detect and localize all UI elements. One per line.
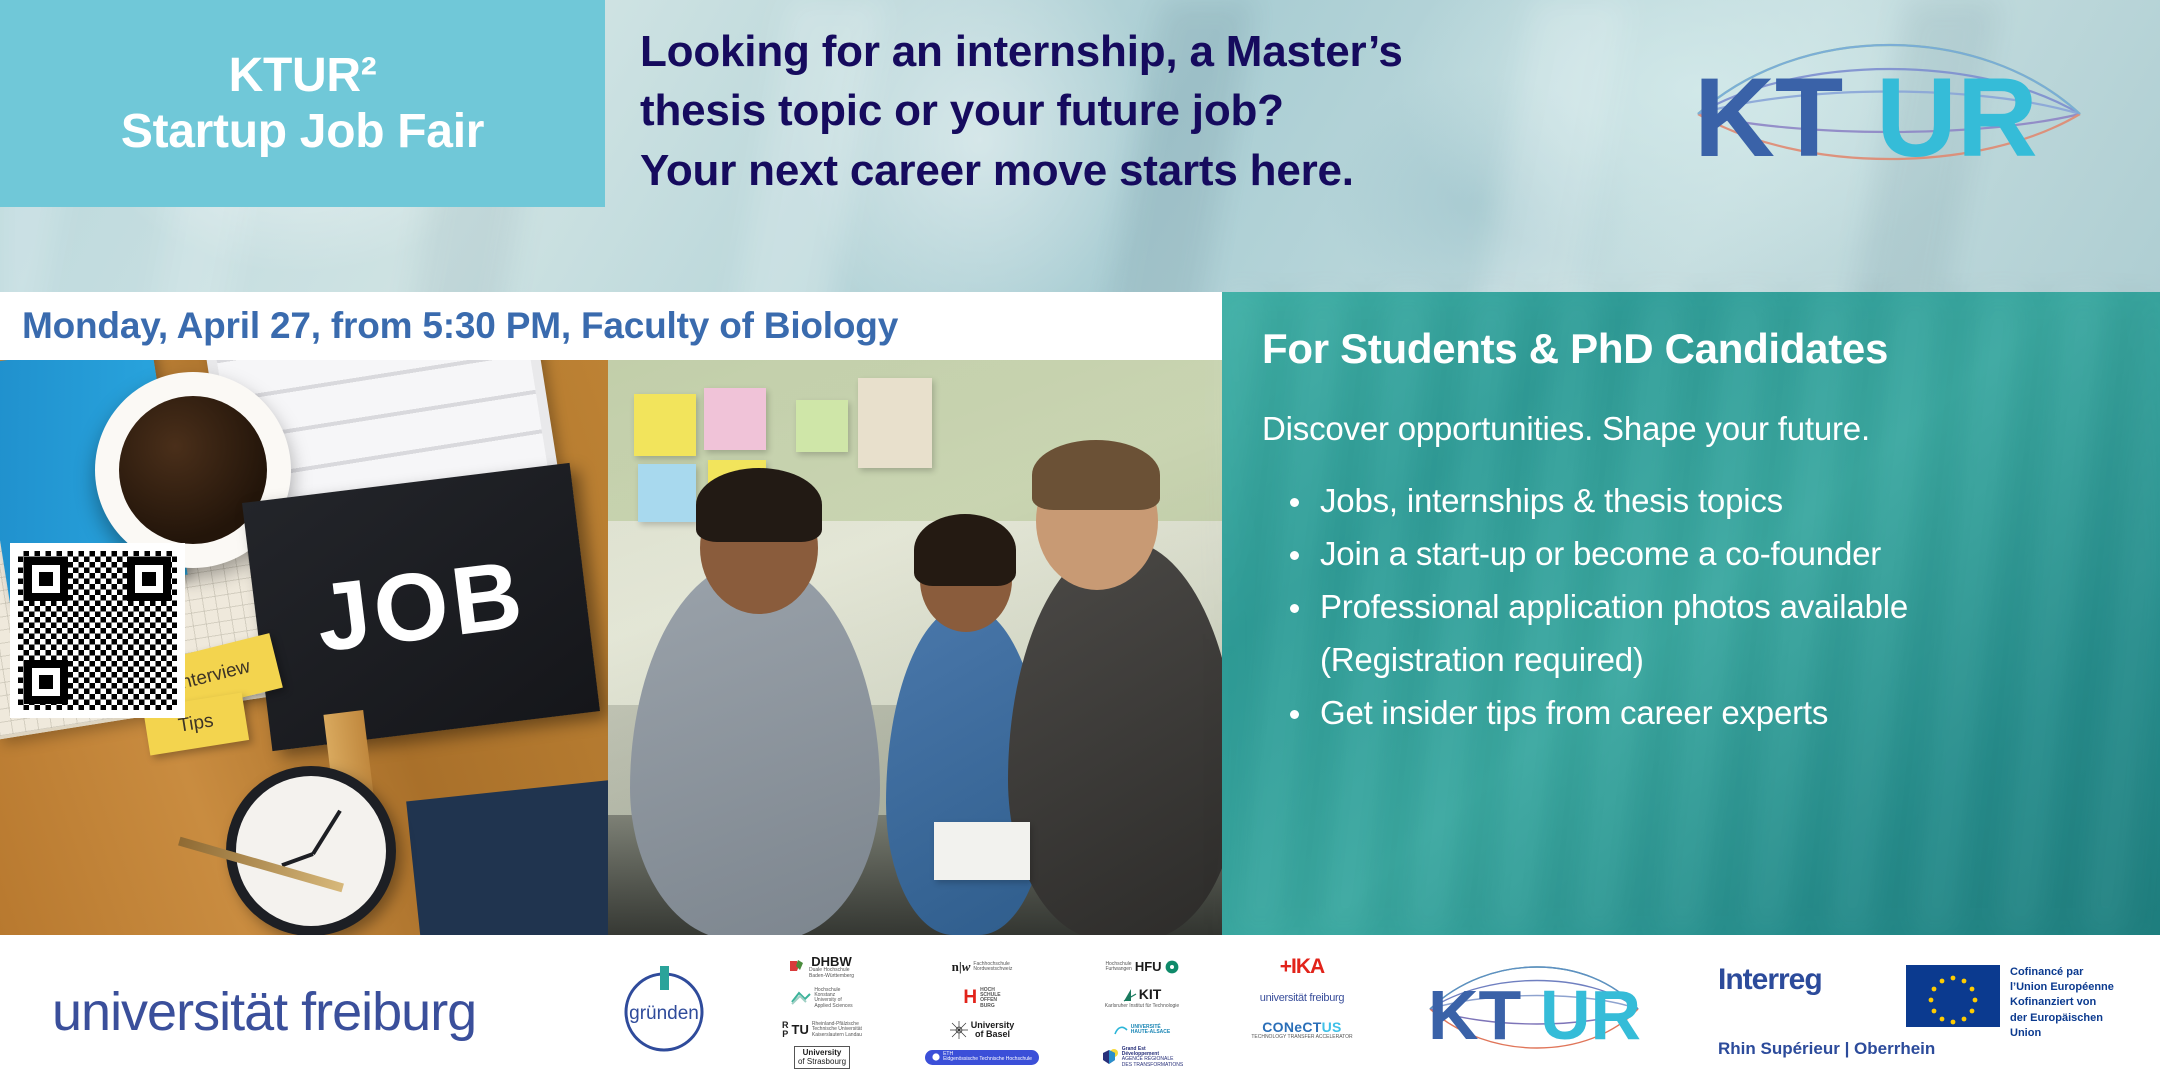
partner-logo-grid: DHBWDuale HochschuleBaden-Württemberg n|… — [742, 951, 1382, 1069]
event-date-bar: Monday, April 27, from 5:30 PM, Faculty … — [0, 292, 1222, 360]
benefit-item: Join a start-up or become a co-founder — [1262, 531, 2160, 578]
eu-funding-line-3: Kofinanziert von — [2010, 995, 2118, 1010]
wall-note-2 — [704, 388, 766, 450]
title-panel: KTUR² Startup Job Fair — [0, 0, 605, 207]
meeting-photo — [608, 360, 1222, 935]
eu-flag — [1906, 965, 2000, 1027]
cup-handle — [119, 427, 203, 511]
interreg-region: Rhin Supérieur | Oberrhein — [1718, 1039, 2118, 1059]
partner-logo-hs-offenburg: H HOCHSCHULEOFFENBURG — [963, 988, 1000, 1009]
promo-banner: KTUR² Startup Job Fair Looking for an in… — [0, 0, 2160, 1080]
ktur-footer-ur: UR — [1540, 976, 1641, 1054]
ktur-footer-kt: KT — [1428, 976, 1521, 1054]
qr-code[interactable] — [10, 543, 185, 718]
wall-note-6 — [858, 378, 932, 468]
benefit-item: Jobs, internships & thesis topics — [1262, 478, 2160, 525]
audience-subtitle: Discover opportunities. Shape your futur… — [1262, 410, 2160, 448]
gruenden-logo: gründen — [618, 962, 710, 1054]
partner-logo-dhbw: DHBWDuale HochschuleBaden-Württemberg — [790, 955, 854, 979]
event-subtitle: Startup Job Fair — [121, 104, 484, 160]
partner-logo-uni-basel: Universityof Basel — [950, 1021, 1015, 1040]
partner-logo-uha: UNIVERSITÉHAUTE-ALSACE — [1114, 1025, 1170, 1036]
partner-logo-conectus: CONeCTUS TECHNOLOGY TRANSFER ACCELERATOR — [1251, 1020, 1352, 1040]
person-right-hair — [1032, 440, 1160, 510]
event-date-text: Monday, April 27, from 5:30 PM, Faculty … — [0, 305, 898, 347]
eu-funding-text: Cofinancé par l’Union Européenne Kofinan… — [2010, 965, 2118, 1041]
wall-note-3 — [638, 464, 696, 522]
interreg-logo: Interreg Cofinancé par — [1718, 963, 2118, 1059]
wall-note-1 — [634, 394, 696, 456]
headline-block: Looking for an internship, a Master’s th… — [640, 22, 1660, 200]
job-board-text: JOB — [310, 540, 531, 675]
partner-logo-rptu: RP TU Rheinland-PfälzischeTechnische Uni… — [782, 1021, 862, 1039]
ktur-footer-logo: KT UR — [1418, 957, 1648, 1057]
partner-logo-htwg: HochschuleKonstanzUniversity ofApplied S… — [791, 988, 852, 1009]
benefit-item: Professional application photos availabl… — [1262, 584, 2160, 631]
qr-eye-top-left — [24, 557, 68, 601]
qr-eye-top-right — [127, 557, 171, 601]
headline-line-1: Looking for an internship, a Master’s — [640, 22, 1660, 81]
partner-logo-fhnw: n|w FachhochschuleNordwestschweiz — [952, 960, 1013, 974]
headline-line-3: Your next career move starts here. — [640, 141, 1660, 200]
benefit-item: Get insider tips from career experts — [1262, 690, 2160, 737]
ktur-ur-text: UR — [1876, 55, 2038, 180]
desk-photo: JOB Interview Tips — [0, 360, 608, 935]
navy-folder-prop — [406, 780, 608, 935]
gruenden-label: gründen — [629, 1003, 699, 1024]
partner-logo-eth: ETHEidgenössische Technische Hochschule — [925, 1050, 1039, 1065]
benefits-list: Jobs, internships & thesis topics Join a… — [1262, 478, 2160, 736]
partner-logo-grand-est: Grand EstDéveloppementAGENCE RÉGIONALEDE… — [1101, 1047, 1184, 1068]
alarm-clock-prop — [226, 766, 396, 935]
wall-note-5 — [796, 400, 848, 452]
partner-logo-hfu: HochschuleFurtwangen HFU — [1105, 960, 1178, 974]
qr-eye-bottom-left — [24, 660, 68, 704]
university-freiburg-logo: universität freiburg — [52, 981, 476, 1043]
partner-logo-uni-freiburg-small: universität freiburg — [1260, 993, 1345, 1005]
headline-line-2: thesis topic or your future job? — [640, 81, 1660, 140]
interreg-wordmark: Interreg — [1718, 963, 1822, 996]
eu-funding-line-2: l’Union Européenne — [2010, 980, 2118, 995]
partner-logo-kit: KIT Karlsruher Institut für Technologie — [1105, 987, 1179, 1009]
ktur-kt-text: KT — [1694, 55, 1843, 180]
audience-panel: For Students & PhD Candidates Discover o… — [1222, 292, 2160, 935]
notebook-in-hand — [934, 822, 1030, 880]
eu-funding-line-1: Cofinancé par — [2010, 965, 2118, 980]
ktur-logo: KT UR — [1680, 28, 2100, 188]
partner-logo-hka: +IKA — [1280, 956, 1324, 978]
benefit-item-note: (Registration required) — [1262, 637, 2160, 684]
event-brand-title: KTUR² — [229, 48, 377, 104]
audience-title: For Students & PhD Candidates — [1262, 326, 2160, 372]
footer-logo-bar: universität freiburg gründen DHBWDuale H… — [0, 935, 2160, 1080]
job-blackboard-prop: JOB — [242, 463, 600, 751]
partner-logo-uni-strasbourg: Universityof Strasbourg — [794, 1046, 850, 1069]
person-left-hair — [696, 468, 822, 542]
person-center-hair — [914, 514, 1016, 586]
eu-funding-line-4: der Europäischen Union — [2010, 1011, 2118, 1041]
